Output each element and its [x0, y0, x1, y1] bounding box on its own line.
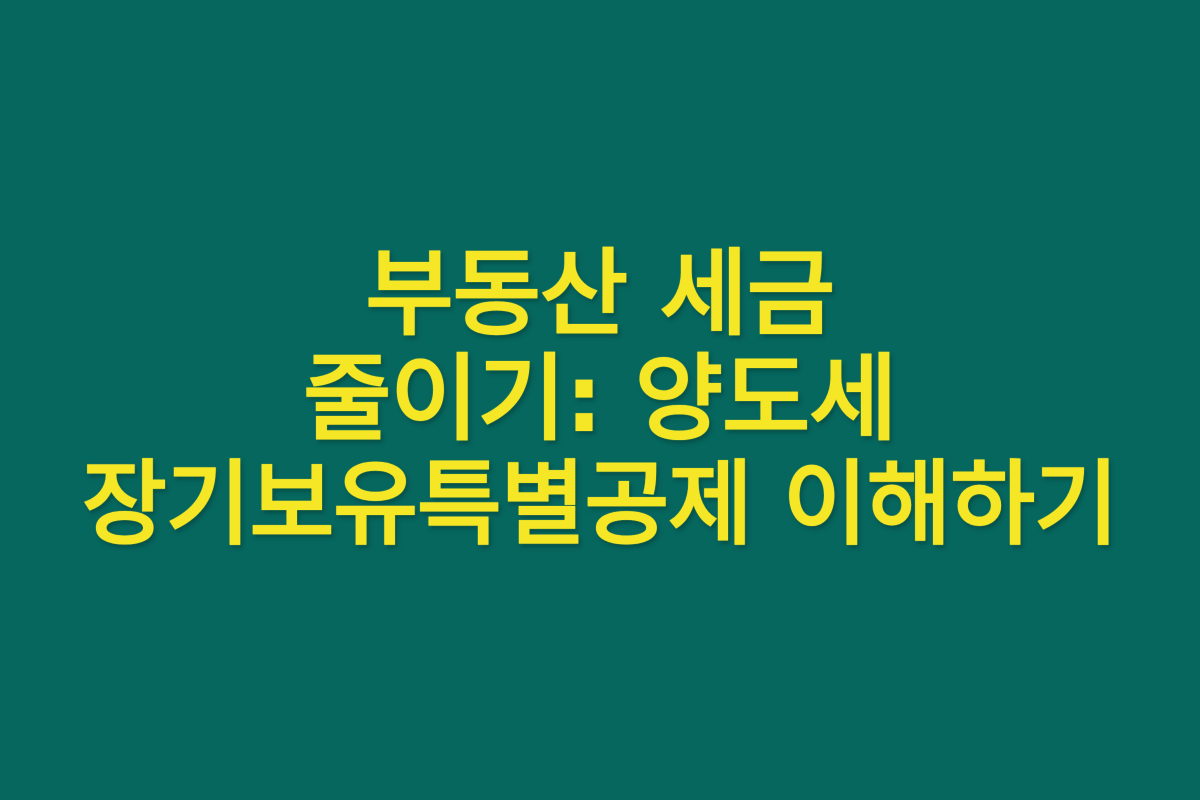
thumbnail-canvas: 부동산 세금 줄이기: 양도세 장기보유특별공제 이해하기 [0, 0, 1200, 800]
title-line-2: 줄이기: 양도세 [303, 347, 896, 452]
title-line-1: 부동산 세금 [366, 242, 835, 347]
title-line-3: 장기보유특별공제 이해하기 [82, 453, 1118, 556]
page-title: 부동산 세금 줄이기: 양도세 장기보유특별공제 이해하기 [10, 242, 1190, 556]
